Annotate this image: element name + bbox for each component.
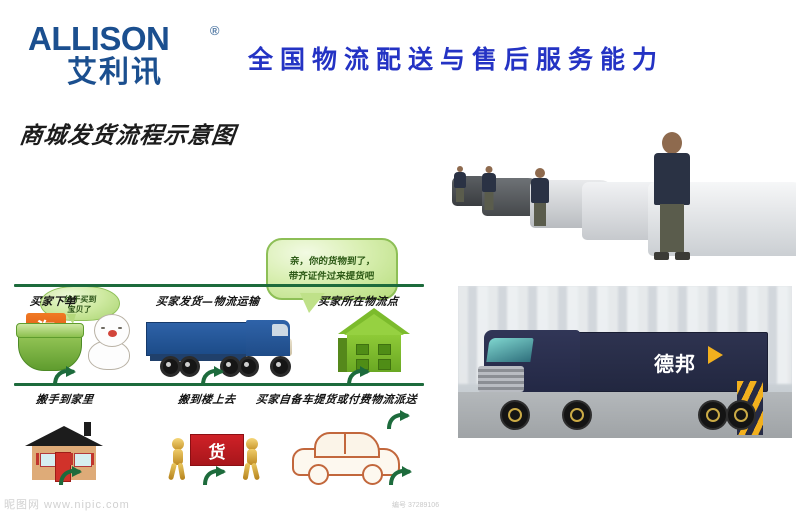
- stage-label-home-delivery: 搬手到家里: [35, 391, 94, 407]
- fleet-staff-shoe: [654, 252, 669, 260]
- flow-arrow-icon: [388, 466, 414, 486]
- fleet-staff-jacket: [482, 173, 496, 192]
- truck-brand-arrow-icon: [708, 346, 723, 364]
- fleet-staff-jacket: [454, 172, 466, 188]
- fleet-staff-shoe: [675, 252, 690, 260]
- watermark-id-text: 编号 37289106: [392, 500, 439, 510]
- fleet-staff-legs: [456, 188, 464, 202]
- truck-wheel: [270, 356, 291, 377]
- delivery-bubble-line-2: 带齐证件过来提货吧: [288, 271, 375, 283]
- deppon-logistics-truck-photo: 德邦: [458, 286, 792, 438]
- sketch-car-wheel: [308, 464, 329, 485]
- fleet-staff-jacket: [531, 178, 549, 203]
- truck-wheel: [698, 400, 728, 430]
- truck-cab-window: [272, 324, 288, 336]
- fleet-staff-head: [486, 166, 493, 173]
- green-house-window: [378, 344, 391, 355]
- page-title: 全国物流配送与售后服务能力: [248, 40, 768, 82]
- sketch-car-pillar: [344, 434, 346, 454]
- company-logo: ALLISON ® 艾利讯: [28, 22, 213, 90]
- fleet-staff-head: [535, 168, 545, 178]
- fleet-staff-legs: [534, 203, 546, 226]
- shopping-basket-icon: 淘: [18, 313, 80, 371]
- stage-label-order: 买家下单: [29, 293, 77, 309]
- carrier-figure-right: [242, 438, 262, 480]
- truck-wheel: [179, 356, 200, 377]
- fleet-staff-member-foreground: [654, 132, 690, 260]
- carrier-leg: [168, 463, 177, 481]
- fleet-staff-member: [454, 166, 466, 202]
- fleet-staff-jacket: [654, 153, 690, 205]
- truck-windshield: [486, 338, 533, 362]
- truck-grille: [478, 366, 524, 392]
- stage-label-logistics-point: 买家所在物流点: [317, 293, 399, 309]
- green-house-roof-highlight: [344, 314, 404, 335]
- flow-divider-line: [14, 383, 424, 386]
- truck-wheel: [500, 400, 530, 430]
- fleet-staff-legs: [485, 192, 494, 210]
- green-house-icon: [338, 308, 410, 374]
- cargo-box-icon: 货: [190, 434, 244, 466]
- cartoon-buyer-icon: [84, 314, 136, 370]
- flow-arrow-icon: [58, 466, 84, 486]
- slide-canvas: ALLISON ® 艾利讯 全国物流配送与售后服务能力 商城发货流程示意图 终于…: [0, 0, 800, 450]
- small-house-shutter: [70, 453, 73, 465]
- truck-trailer-shape: [146, 322, 250, 356]
- small-house-window: [74, 453, 92, 467]
- stage-label-self-pickup: 买家自备车提货或付费物流派送: [255, 391, 418, 407]
- small-house-shutter: [91, 453, 94, 465]
- truck-wheel: [562, 400, 592, 430]
- registered-trademark-icon: ®: [210, 14, 219, 48]
- buyer-eye-left: [101, 327, 105, 329]
- basket-rim-shape: [16, 323, 84, 338]
- delivery-speech-bubble: 亲，你的货物到了， 带齐证件过来提货吧: [266, 238, 398, 300]
- small-house-shutter: [36, 453, 39, 465]
- truck-wheel: [726, 400, 756, 430]
- fleet-staff-head: [662, 132, 682, 154]
- flow-diagram-heading: 商城发货流程示意图: [18, 116, 238, 150]
- logo-latin-label: ALLISON: [28, 20, 169, 57]
- shipping-flow-diagram: 商城发货流程示意图 终于买到 宝贝了 淘: [0, 108, 440, 413]
- flow-divider-line: [14, 284, 424, 287]
- truck-wheel: [160, 356, 181, 377]
- flow-arrow-icon: [202, 466, 228, 486]
- delivery-bubble-line-1: 亲，你的货物到了，: [289, 256, 376, 268]
- delivery-speech-bubble-text: 亲，你的货物到了， 带齐证件过来提货吧: [265, 240, 398, 298]
- watermark-text: 昵图网 www.nipic.com: [4, 496, 304, 512]
- green-house-window: [356, 344, 369, 355]
- flow-arrow-icon: [386, 410, 412, 430]
- sketch-car-wheel: [362, 464, 383, 485]
- carrier-leg: [243, 463, 251, 481]
- sketch-car-icon: [292, 430, 396, 482]
- carrier-leg: [178, 463, 186, 481]
- green-house-window: [378, 359, 391, 370]
- carrier-leg: [251, 463, 260, 481]
- small-house-roof: [25, 426, 103, 446]
- buyer-eye-right: [118, 327, 122, 329]
- truck-brand-label: 德邦: [654, 348, 696, 377]
- fleet-staff-member: [531, 168, 549, 226]
- logo-latin-text: ALLISON ®: [28, 22, 213, 56]
- slide-header: ALLISON ® 艾利讯 全国物流配送与售后服务能力: [0, 0, 800, 100]
- stage-label-carry-upstairs: 搬到楼上去: [177, 391, 236, 407]
- carrier-figure-left: [168, 438, 188, 480]
- cargo-box-label: 货: [209, 438, 226, 463]
- buyer-mouth-shape: [108, 330, 117, 337]
- sketch-car-cabin: [314, 432, 380, 458]
- fleet-staff-member: [482, 166, 496, 210]
- service-fleet-photo: [452, 108, 796, 268]
- logo-chinese-label: 艾利讯: [40, 56, 190, 89]
- stage-label-shipping: 买家发货—物流运输: [155, 293, 260, 309]
- fleet-staff-legs: [660, 204, 684, 252]
- truck-wheel: [238, 356, 259, 377]
